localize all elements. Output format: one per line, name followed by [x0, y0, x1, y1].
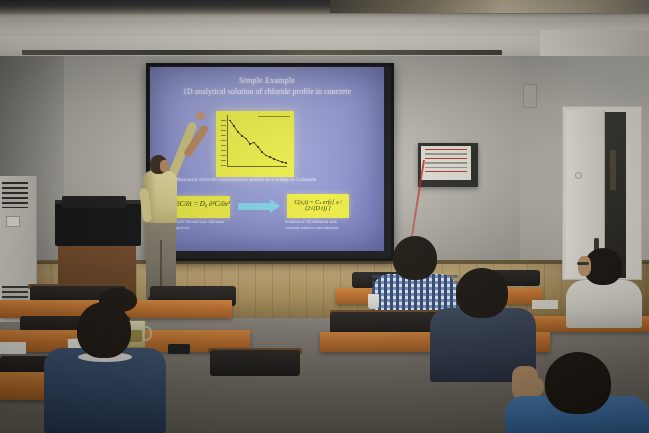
glasses-icon [577, 262, 589, 265]
slide-subtitle: 1D analytical solution of chloride profi… [150, 86, 384, 97]
arrow-icon-body [238, 203, 272, 210]
chart-curve [216, 111, 294, 177]
door-opening-highlight [610, 150, 616, 190]
ac-vent-top [2, 182, 28, 208]
equation-left-text: ∂C/∂t = D₀ ∂²C/∂x² [176, 200, 230, 208]
attendee-front-right-head [545, 352, 611, 414]
papers-left[interactable] [0, 342, 26, 354]
chair-front-center[interactable] [210, 350, 300, 376]
notice-paper [421, 146, 471, 180]
door-peephole-icon [575, 172, 582, 179]
notebook[interactable] [532, 300, 558, 309]
arrow-right-icon [270, 199, 280, 213]
ac-control-panel[interactable] [6, 216, 20, 227]
mobile-phone[interactable] [168, 344, 190, 354]
slide-title: Simple Example [150, 75, 384, 86]
attendee-back-white-body [566, 280, 642, 328]
attendee-front-right-ear [531, 378, 544, 396]
presenter-hand [196, 112, 205, 120]
ceiling-slot-light [330, 0, 649, 13]
mug-handle [143, 326, 152, 341]
lecture-room-photo: Simple Example 1D analytical solution of… [0, 0, 649, 433]
attendee-mid-check-head [393, 236, 437, 280]
attendee-front-left-head [77, 302, 131, 358]
laptop[interactable] [62, 196, 126, 208]
lectern-top [55, 202, 141, 246]
presenter-face [160, 160, 169, 172]
equation-left-caption: Fick's Second Law diffusion equation [174, 219, 236, 231]
attendee-back-white-face [578, 256, 591, 276]
ceiling-rail [22, 50, 502, 55]
attendee-mid-dark-head [456, 268, 508, 318]
equation-right-caption: Solution of 1D diffusion with constant s… [285, 219, 351, 231]
wall-speaker [523, 84, 537, 108]
paper-cup[interactable] [368, 294, 379, 309]
slide-chart-caption: Measured chloride concentration profile … [176, 178, 356, 183]
equation-right-text: C(x,t) = Cₛ erfc[ x / (2√(D t)) ] [287, 199, 349, 212]
